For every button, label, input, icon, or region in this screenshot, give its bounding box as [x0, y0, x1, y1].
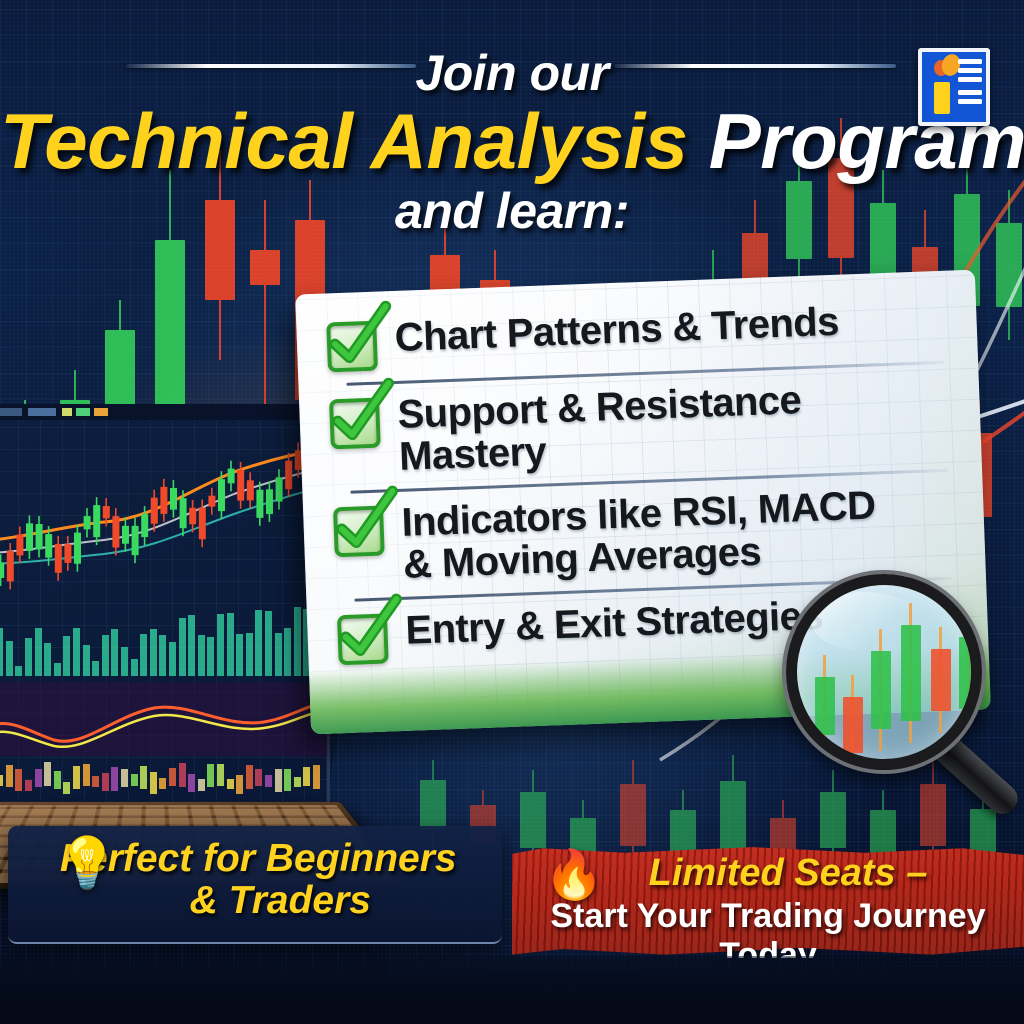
eyebrow-text: Join our: [0, 44, 1024, 102]
list-item[interactable]: Indicators like RSI, MACD & Moving Avera…: [333, 481, 960, 588]
promo-poster: Join our Technical Analysis Program and …: [0, 0, 1024, 1024]
list-item[interactable]: Chart Patterns & Trends: [326, 297, 952, 373]
lens-glare: [811, 592, 919, 651]
magnifying-glass-icon: [786, 574, 1018, 806]
lightbulb-icon: 💡: [56, 838, 118, 888]
beginners-banner-text: Perfect for Beginners & Traders: [60, 838, 457, 922]
list-item-label: Chart Patterns & Trends: [394, 301, 839, 359]
fire-icon: 🔥: [544, 852, 604, 900]
magnifier-lens: [786, 574, 982, 770]
candlestick: [815, 677, 835, 735]
list-item[interactable]: Support & Resistance Mastery: [329, 374, 956, 481]
page-title: Technical Analysis Program: [0, 96, 1024, 187]
candlestick: [871, 651, 891, 729]
checked-checkbox-icon[interactable]: [337, 613, 389, 665]
limited-seats-banner[interactable]: 🔥 Limited Seats – Start Your Trading Jou…: [512, 846, 1024, 958]
checked-checkbox-icon[interactable]: [326, 321, 378, 373]
checked-checkbox-icon[interactable]: [329, 398, 381, 450]
candlestick: [959, 637, 979, 709]
title-highlight: Technical Analysis: [0, 97, 709, 185]
checked-checkbox-icon[interactable]: [333, 506, 385, 558]
subtitle-text: and learn:: [0, 182, 1024, 240]
laptop-trading-chart: [0, 404, 330, 824]
list-item-label: Indicators like RSI, MACD & Moving Avera…: [401, 485, 878, 586]
chart-document-logo: [918, 48, 990, 126]
candlestick: [843, 697, 863, 753]
bottom-strip: [0, 956, 1024, 1024]
list-item-label: Support & Resistance Mastery: [397, 374, 956, 478]
list-item-label: Entry & Exit Strategies: [405, 595, 824, 652]
candlestick: [931, 649, 951, 711]
